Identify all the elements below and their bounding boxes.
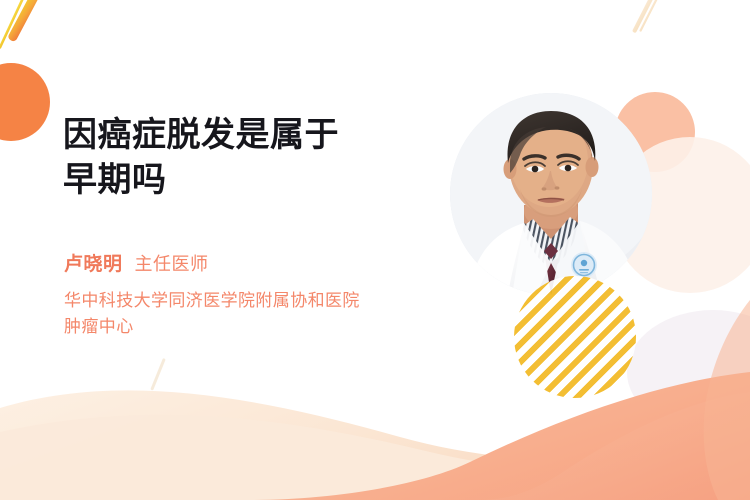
decor-stripe-circle [514,276,636,398]
decor-orange-dot [0,63,50,141]
doctor-portrait [450,93,652,295]
doctor-qa-card: 因癌症脱发是属于 早期吗 卢晓明 主任医师 华中科技大学同济医学院附属协和医院 … [0,0,750,500]
doctor-hospital: 华中科技大学同济医学院附属协和医院 肿瘤中心 [64,288,464,340]
doctor-name: 卢晓明 [64,249,123,276]
doctor-professional-title: 主任医师 [135,250,209,276]
portrait-illustration [450,93,652,295]
doctor-identity: 卢晓明 主任医师 [64,249,209,276]
page-title: 因癌症脱发是属于 早期吗 [63,113,433,203]
decor-stripe-pattern [514,276,636,398]
portrait-clip [450,93,652,295]
